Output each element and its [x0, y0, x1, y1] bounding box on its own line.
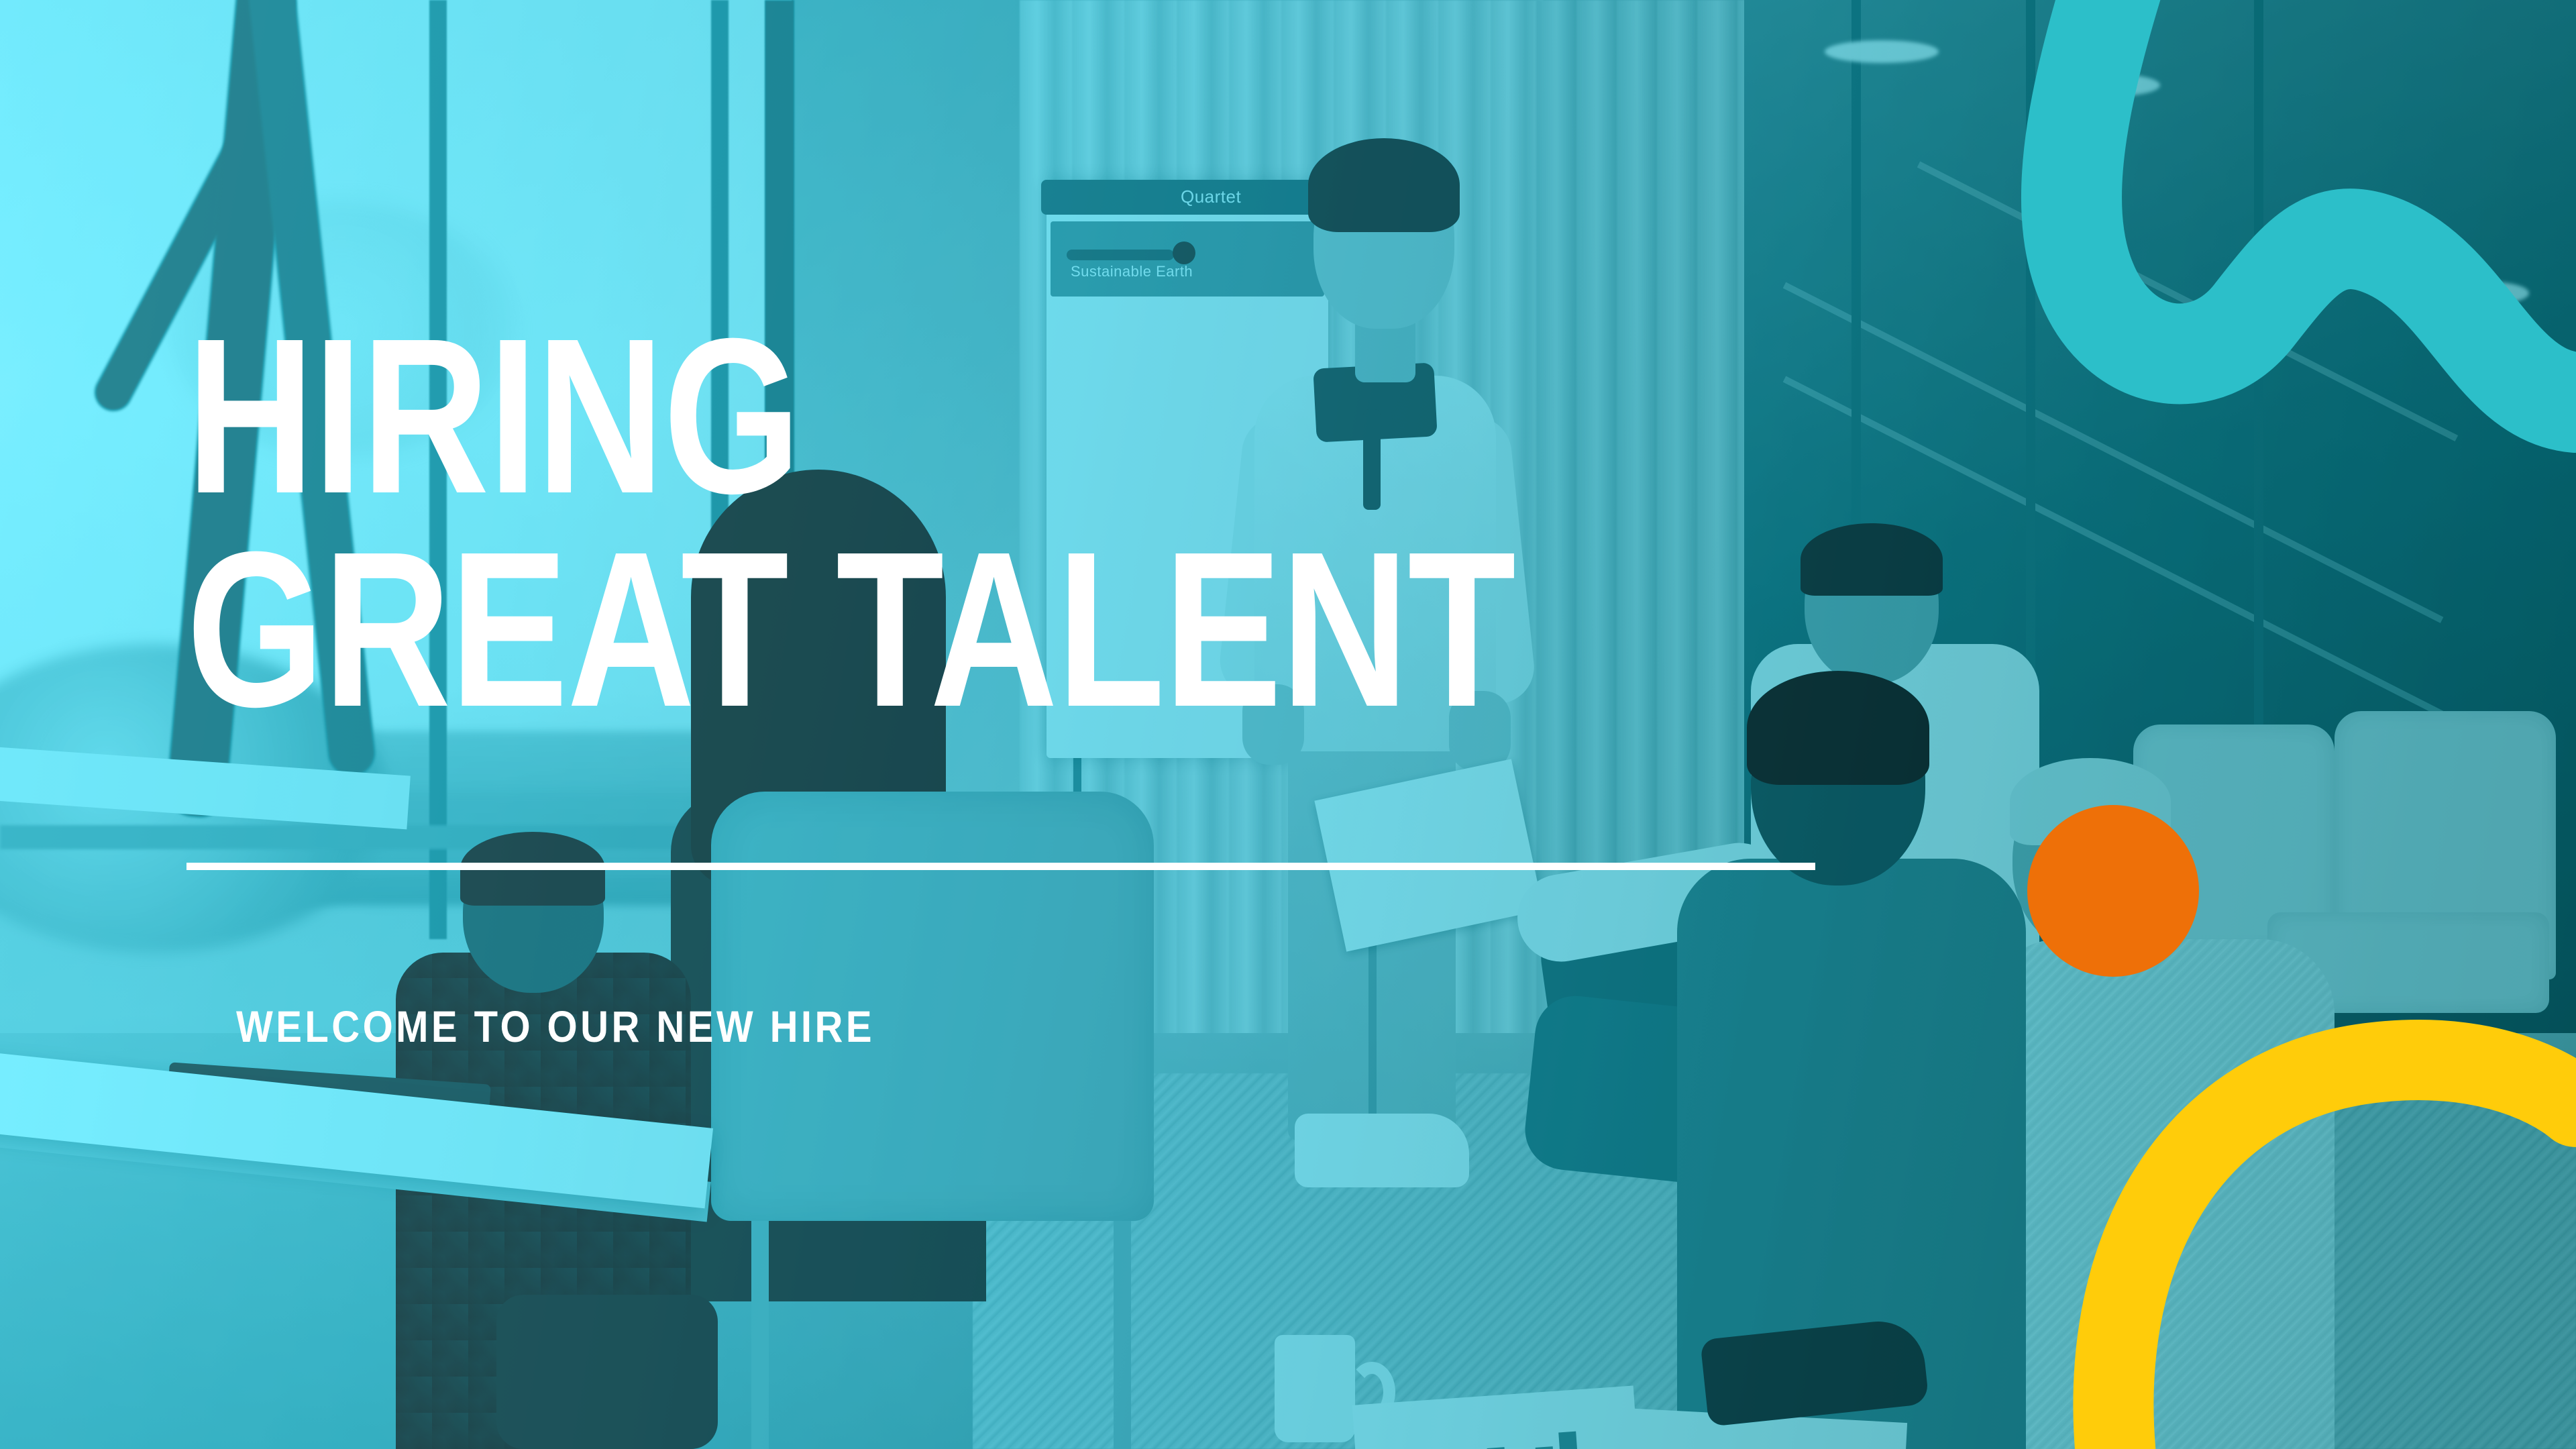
subtitle-text: WELCOME TO OUR NEW HIRE: [236, 1001, 875, 1052]
headline-block: HIRING GREAT TALENT: [186, 314, 1847, 731]
poster-canvas: Quartet Sustainable Earth: [0, 0, 2576, 1449]
headline-line-2: GREAT TALENT: [186, 527, 1515, 731]
headline-line-1: HIRING: [186, 314, 1515, 518]
divider-rule: [186, 863, 1815, 870]
